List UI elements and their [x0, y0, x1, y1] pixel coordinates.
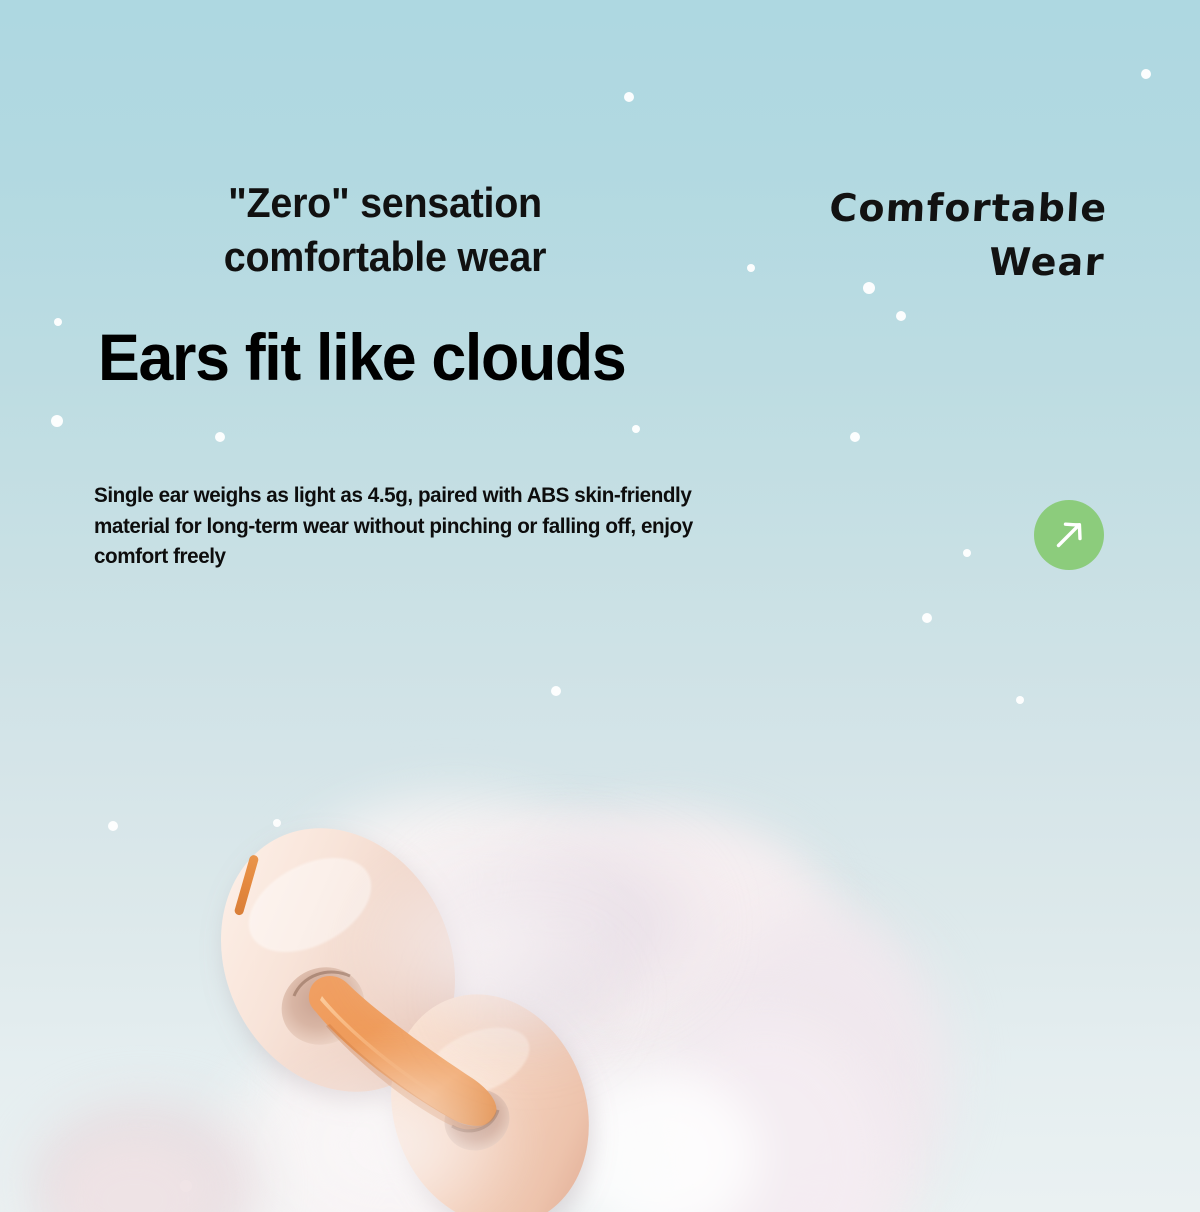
decorative-dot [747, 264, 755, 272]
decorative-dot [215, 432, 225, 442]
page-title: Ears fit like clouds [98, 322, 625, 393]
arrow-badge-button[interactable] [1034, 500, 1104, 570]
decorative-dot [51, 415, 63, 427]
product-feature-banner: "Zero" sensation comfortable wear Ears f… [0, 0, 1200, 1212]
decorative-dot [850, 432, 860, 442]
decorative-dot [963, 549, 971, 557]
earbud-product-image [190, 810, 650, 1210]
body-description: Single ear weighs as light as 4.5g, pair… [94, 480, 766, 572]
eyebrow-heading: "Zero" sensation comfortable wear [23, 176, 747, 284]
arrow-up-right-icon [1050, 516, 1088, 554]
decorative-dot [922, 613, 932, 623]
decorative-dot [54, 318, 62, 326]
comfortable-wear-label: Comfortable Wear [825, 182, 1109, 290]
decorative-dot [624, 92, 634, 102]
cloud-product-scene [0, 690, 1200, 1212]
decorative-dot [896, 311, 906, 321]
decorative-dot [632, 425, 640, 433]
decorative-dot [1141, 69, 1151, 79]
